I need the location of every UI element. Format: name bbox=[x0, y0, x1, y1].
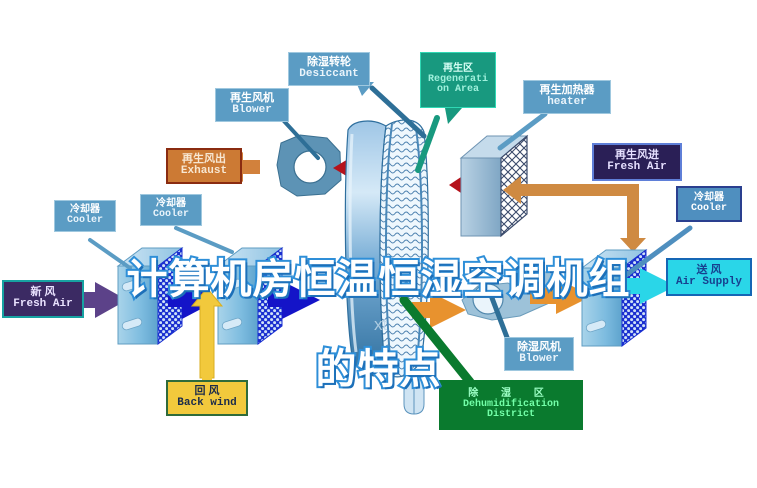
label-regeneration-blower[interactable]: 再生风机 Blower bbox=[215, 88, 289, 122]
watermark-text: xt bbox=[374, 315, 388, 334]
label-regeneration-area-en: Regenerati on Area bbox=[428, 75, 488, 97]
label-cooler-left-2[interactable]: 冷却器 Cooler bbox=[140, 194, 202, 226]
label-back-wind-en: Back wind bbox=[177, 398, 236, 410]
label-cooler-left-1-en: Cooler bbox=[67, 216, 103, 227]
cooler2-body bbox=[218, 266, 258, 344]
hvac-system-diagram: xt bbox=[0, 0, 757, 488]
tail-regen-area bbox=[445, 108, 462, 124]
heater-body bbox=[461, 158, 501, 236]
label-desiccant-wheel-en: Desiccant bbox=[299, 69, 358, 81]
label-air-supply-en: Air Supply bbox=[676, 277, 742, 289]
leader-cooler-1 bbox=[90, 240, 130, 268]
label-regeneration-area[interactable]: 再生区 Regenerati on Area bbox=[420, 52, 496, 108]
cooler3-body bbox=[582, 268, 622, 346]
regeneration-blower-hub bbox=[294, 151, 326, 183]
label-cooler-right-en: Cooler bbox=[691, 204, 727, 215]
label-regeneration-heater-en: heater bbox=[547, 97, 587, 109]
label-regeneration-heater[interactable]: 再生加热器 heater bbox=[523, 80, 611, 114]
desiccant-wheel: xt bbox=[345, 120, 428, 414]
label-desiccant-wheel[interactable]: 除湿转轮 Desiccant bbox=[288, 52, 370, 86]
label-dehumidification-blower[interactable]: 除湿风机 Blower bbox=[504, 337, 574, 371]
label-back-wind[interactable]: 回 风 Back wind bbox=[166, 380, 248, 416]
label-exhaust[interactable]: 再生风出 Exhaust bbox=[166, 148, 242, 184]
label-regeneration-fresh-air-en: Fresh Air bbox=[607, 162, 666, 174]
diagram-canvas: xt bbox=[0, 0, 757, 488]
label-dehumidification-blower-en: Blower bbox=[519, 354, 559, 366]
label-regeneration-area-cn: 再生区 bbox=[443, 64, 473, 75]
cooler1-body bbox=[118, 266, 158, 344]
regeneration-blower-unit bbox=[277, 135, 341, 196]
label-fresh-air-en: Fresh Air bbox=[13, 299, 72, 311]
leader-cooler-2 bbox=[176, 228, 232, 252]
label-regeneration-fresh-air[interactable]: 再生风进 Fresh Air bbox=[592, 143, 682, 181]
label-cooler-left-2-en: Cooler bbox=[153, 210, 189, 221]
label-fresh-air[interactable]: 新 风 Fresh Air bbox=[2, 280, 84, 318]
label-exhaust-en: Exhaust bbox=[181, 166, 227, 178]
label-air-supply[interactable]: 送 风 Air Supply bbox=[666, 258, 752, 296]
label-dehumidification-district[interactable]: 除 湿 区 Dehumidification District bbox=[439, 380, 583, 430]
label-regeneration-blower-en: Blower bbox=[232, 105, 272, 117]
label-cooler-left-1[interactable]: 冷却器 Cooler bbox=[54, 200, 116, 232]
label-cooler-right[interactable]: 冷却器 Cooler bbox=[676, 186, 742, 222]
label-dehumidification-district-en: Dehumidification District bbox=[463, 400, 559, 422]
label-dehumidification-district-cn: 除 湿 区 bbox=[468, 389, 554, 400]
